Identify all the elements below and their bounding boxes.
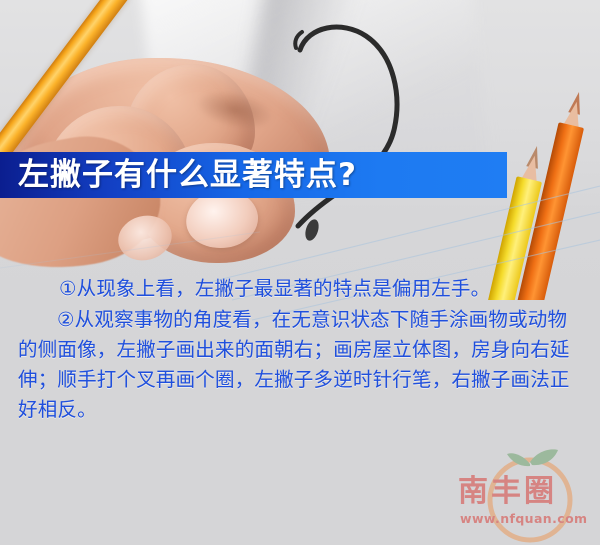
watermark-url: www.nfquan.com — [460, 511, 587, 526]
title-banner: 左撇子有什么显著特点? — [0, 152, 507, 198]
yellow-colored-pencil — [524, 143, 549, 149]
article-body: ①从现象上看，左撇子最显著的特点是偏用左手。 ②从观察事物的角度看，在无意识状态… — [18, 274, 582, 426]
orange-colored-pencil — [566, 89, 591, 95]
drawn-squiggle-icon — [290, 18, 440, 258]
poster-canvas: 左撇子有什么显著特点? ①从现象上看，左撇子最显著的特点是偏用左手。 ②从观察事… — [0, 0, 600, 545]
header-photo — [0, 0, 600, 300]
article-paragraph-1: ①从现象上看，左撇子最显著的特点是偏用左手。 — [18, 274, 582, 304]
site-watermark: 南丰圈 www.nfquan.com — [452, 448, 600, 545]
watermark-brand: 南丰圈 — [458, 474, 557, 510]
article-paragraph-2: ②从观察事物的角度看，在无意识状态下随手涂画物或动物的侧面像，左撇子画出来的面朝… — [18, 305, 582, 425]
page-title: 左撇子有什么显著特点? — [0, 152, 357, 198]
